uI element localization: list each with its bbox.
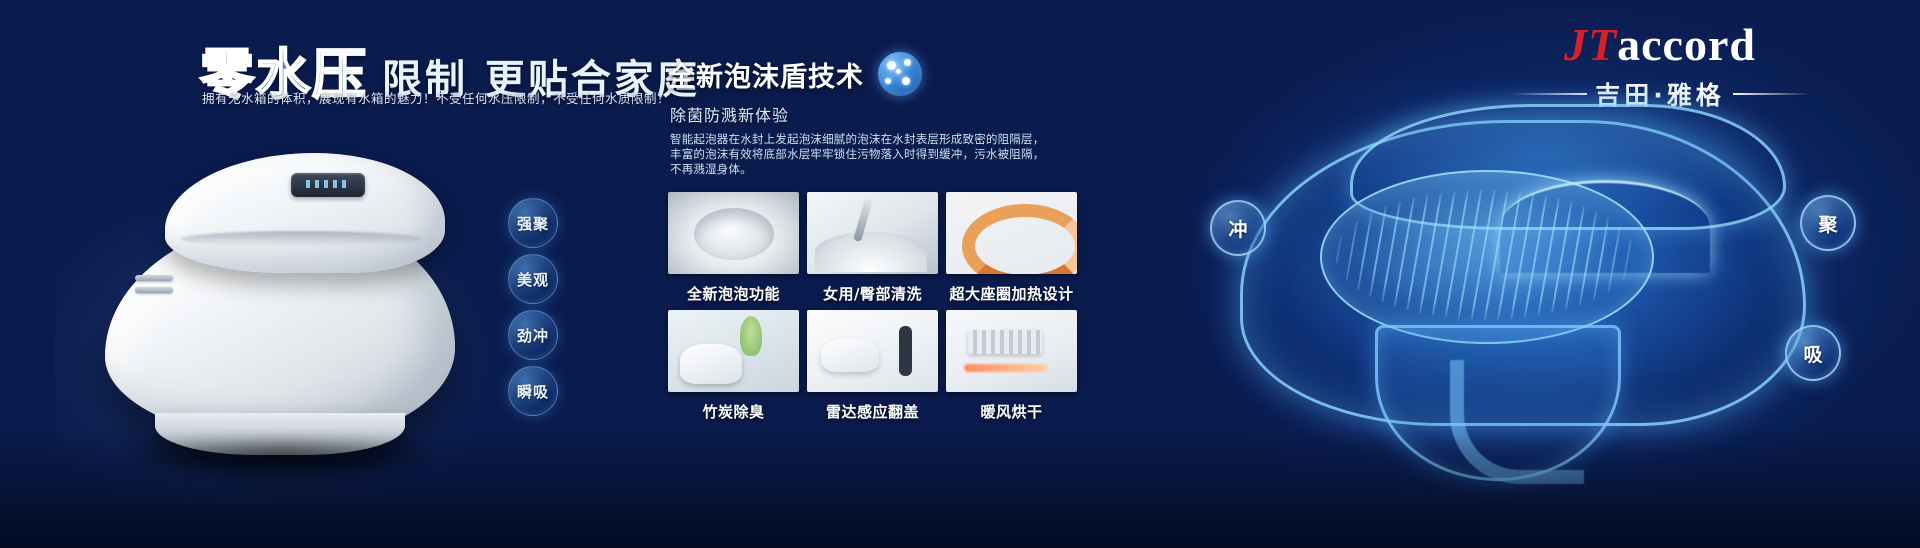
feature-caption: 超大座圈加热设计 <box>946 283 1077 304</box>
brand-logo-accord: accord <box>1617 19 1756 70</box>
brand-logo-jt: JT <box>1564 19 1617 70</box>
feminine-rear-wash-thumb <box>807 192 938 274</box>
center-subtitle: 除菌防溅新体验 <box>670 102 789 126</box>
promo-banner: 零水压 限制 更贴合家庭 拥有无水箱的体积，展现有水箱的魅力！不受任何水压限制，… <box>0 0 1920 548</box>
feature-grid-row: 竹炭除臭 雷达感应翻盖 暖风烘干 <box>668 310 1078 422</box>
toilet-seam <box>181 231 421 247</box>
center-body-line: 不再溅湿身体。 <box>670 162 1000 177</box>
feature-pill-label: 强聚 <box>517 213 549 234</box>
feature-cell[interactable]: 全新泡泡功能 <box>668 192 799 304</box>
center-title: 全新泡沫盾技术 <box>668 55 864 94</box>
feature-pill[interactable]: 瞬吸 <box>508 366 558 416</box>
smart-toilet-photo <box>95 135 475 465</box>
feature-pill-label: 瞬吸 <box>517 381 549 402</box>
feature-pill[interactable]: 劲冲 <box>508 310 558 360</box>
center-heading-row: 全新泡沫盾技术 <box>668 52 922 96</box>
toilet-lid <box>165 153 445 273</box>
xray-badge[interactable]: 聚 <box>1800 195 1856 251</box>
xray-badge-label: 冲 <box>1228 215 1247 242</box>
feature-pill[interactable]: 强聚 <box>508 198 558 248</box>
feature-grid-row: 全新泡泡功能 女用/臀部清洗 超大座圈加热设计 <box>668 192 1078 304</box>
feature-caption: 女用/臀部清洗 <box>807 283 938 304</box>
feature-cell[interactable]: 超大座圈加热设计 <box>946 192 1077 304</box>
bubble-function-thumb <box>668 192 799 274</box>
center-panel: 全新泡沫盾技术 除菌防溅新体验 智能起泡器在水封上发起泡沫细腻的泡沫在水封表层形… <box>668 0 1088 548</box>
bubble-shield-icon <box>878 52 922 96</box>
feature-cell[interactable]: 女用/臀部清洗 <box>807 192 938 304</box>
control-panel-icon <box>291 173 365 197</box>
feature-pill-label: 劲冲 <box>517 325 549 346</box>
feature-pill-label: 美观 <box>517 269 549 290</box>
left-description: 拥有无水箱的体积，展现有水箱的魅力！不受任何水压限制，不受任何水质限制！ <box>202 88 670 107</box>
bamboo-charcoal-deodorize-thumb <box>668 310 799 392</box>
warm-air-dry-thumb <box>946 310 1077 392</box>
rule-right <box>1733 93 1810 95</box>
left-panel: 零水压 限制 更贴合家庭 拥有无水箱的体积，展现有水箱的魅力！不受任何水压限制，… <box>0 0 640 548</box>
toilet-xray-render: 冲 聚 吸 <box>1200 110 1850 510</box>
feature-caption: 全新泡泡功能 <box>668 283 799 304</box>
heated-seat-ring-thumb <box>946 192 1077 274</box>
center-body-text: 智能起泡器在水封上发起泡沫细腻的泡沫在水封表层形成致密的阻隔层， 丰富的泡沫有效… <box>670 132 1000 177</box>
side-buttons-icon <box>135 275 177 301</box>
xray-rim-glow <box>1500 180 1710 273</box>
center-body-line: 丰富的泡沫有效将底部水层牢牢锁住污物落入时得到缓冲，污水被阻隔， <box>670 147 1000 162</box>
radar-sensor-lid-thumb <box>807 310 938 392</box>
feature-cell[interactable]: 雷达感应翻盖 <box>807 310 938 422</box>
feature-caption: 竹炭除臭 <box>668 401 799 422</box>
brand-logo-latin: JTaccord <box>1510 22 1810 68</box>
xray-badge-label: 吸 <box>1803 340 1822 367</box>
xray-badge[interactable]: 吸 <box>1785 325 1841 381</box>
center-body-line: 智能起泡器在水封上发起泡沫细腻的泡沫在水封表层形成致密的阻隔层， <box>670 132 1000 147</box>
brand-logo[interactable]: JTaccord 吉田·雅格 <box>1510 22 1810 112</box>
feature-cell[interactable]: 暖风烘干 <box>946 310 1077 422</box>
feature-pill-list: 强聚 美观 劲冲 瞬吸 <box>508 198 564 422</box>
xray-badge[interactable]: 冲 <box>1210 200 1266 256</box>
feature-caption: 雷达感应翻盖 <box>807 401 938 422</box>
feature-grid: 全新泡泡功能 女用/臀部清洗 超大座圈加热设计 竹炭除臭 雷 <box>668 192 1078 428</box>
feature-cell[interactable]: 竹炭除臭 <box>668 310 799 422</box>
xray-badge-label: 聚 <box>1818 210 1837 237</box>
product-shadow <box>115 435 445 477</box>
rule-left <box>1510 93 1587 95</box>
right-panel: JTaccord 吉田·雅格 冲 聚 吸 <box>1130 0 1920 548</box>
feature-pill[interactable]: 美观 <box>508 254 558 304</box>
feature-caption: 暖风烘干 <box>946 401 1077 422</box>
